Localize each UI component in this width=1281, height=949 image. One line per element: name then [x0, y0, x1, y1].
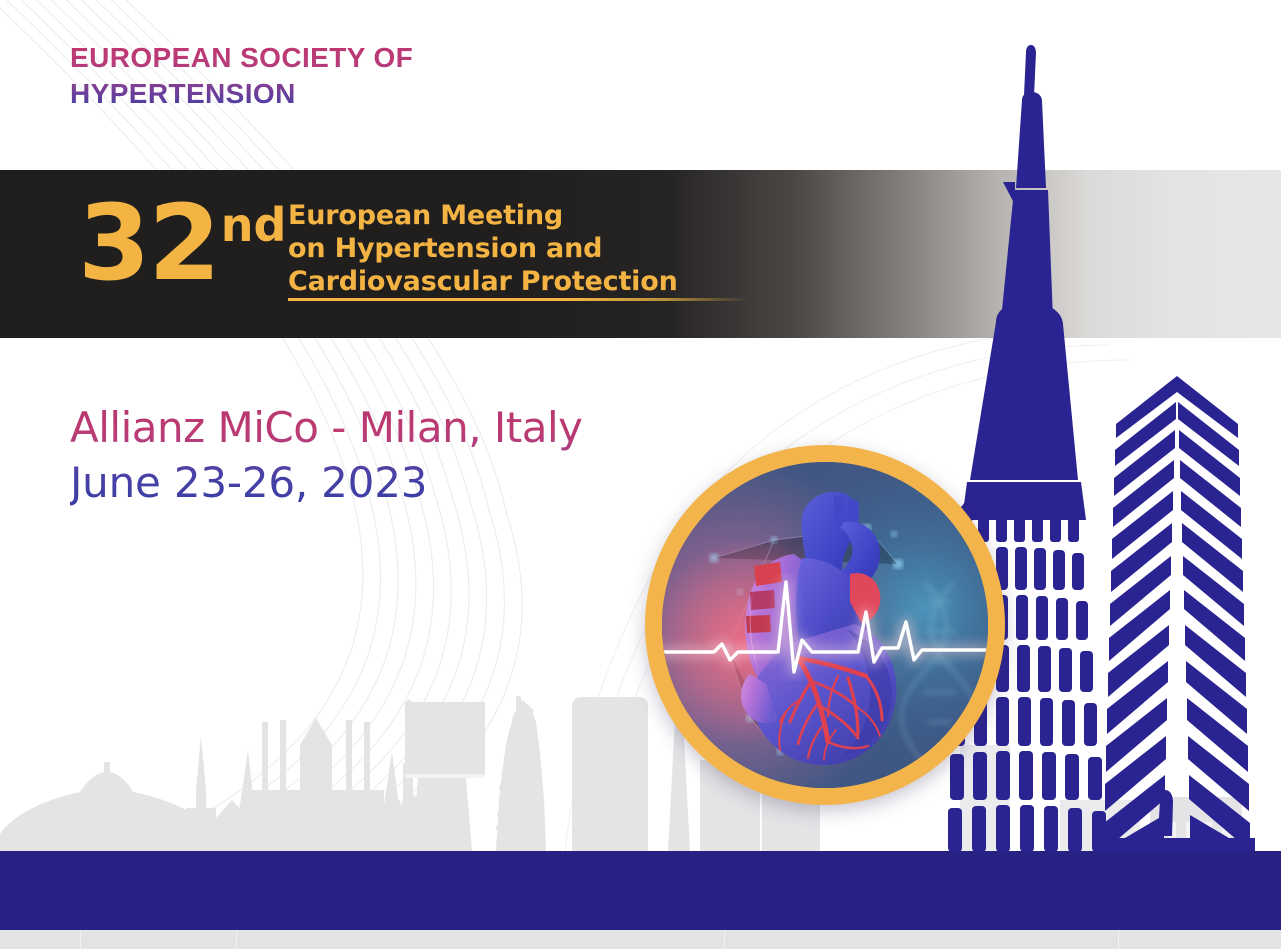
society-name: EUROPEAN SOCIETY OF HYPERTENSION	[70, 40, 413, 112]
event-venue: Allianz MiCo - Milan, Italy	[70, 403, 583, 453]
anatomical-heart-with-ecg-photo	[662, 462, 988, 788]
meeting-banner: 32 nd European Meeting on Hypertension a…	[0, 170, 1281, 338]
meeting-title: European Meeting on Hypertension and Car…	[288, 200, 678, 299]
heart-medallion-ring	[645, 445, 1005, 805]
meeting-title-line-2: on Hypertension and	[288, 233, 678, 266]
meeting-title-underline	[288, 298, 748, 301]
edition-ordinal: 32 nd	[78, 196, 286, 292]
edition-number: 32	[78, 196, 219, 292]
meeting-title-line-1: European Meeting	[288, 200, 678, 233]
event-dates: June 23-26, 2023	[70, 458, 427, 508]
edition-suffix: nd	[221, 202, 287, 248]
conference-poster: 32 nd European Meeting on Hypertension a…	[0, 0, 1281, 949]
footer-bar	[0, 851, 1281, 930]
footer-strip	[0, 930, 1281, 949]
meeting-title-line-3: Cardiovascular Protection	[288, 266, 678, 299]
